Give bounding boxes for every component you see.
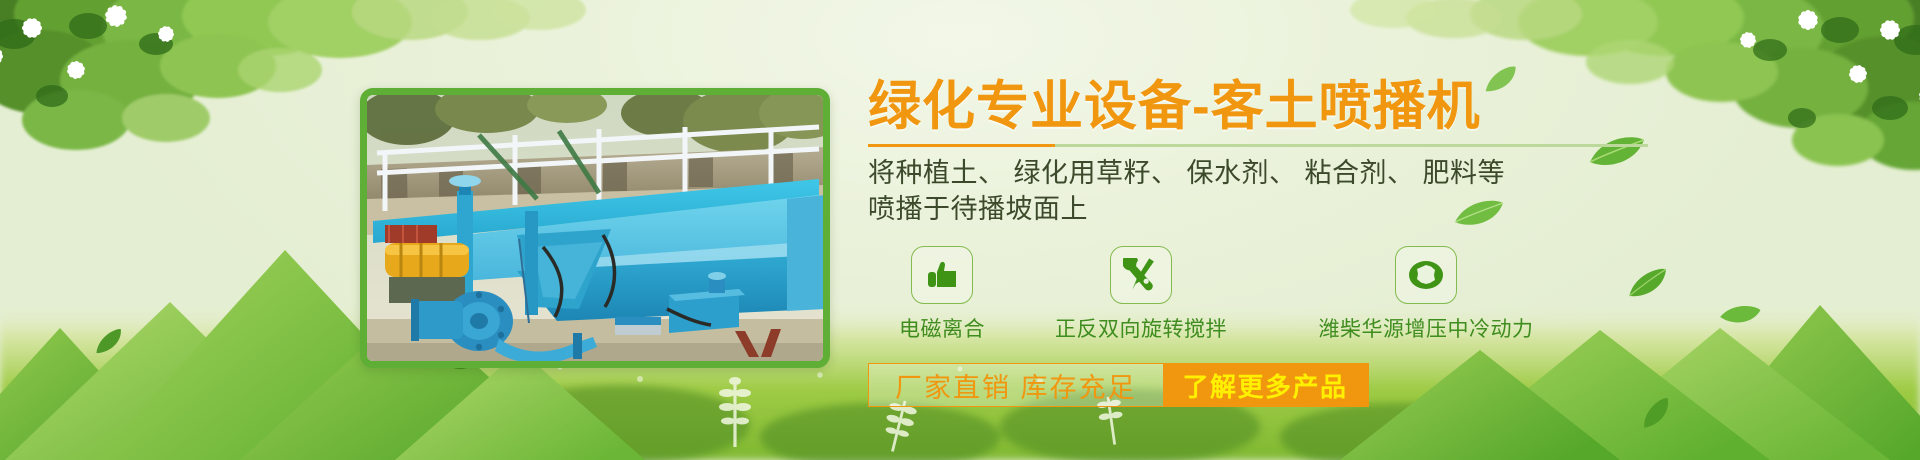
banner-content: 绿化专业设备-客土喷播机 将种植土、 绿化用草籽、 保水剂、 粘合剂、 肥料等 … bbox=[868, 78, 1828, 407]
tools-icon bbox=[1110, 246, 1172, 304]
cta-slogan: 厂家直销 库存充足 bbox=[869, 364, 1163, 406]
subtitle-line-2: 喷播于待播坡面上 bbox=[868, 192, 1828, 228]
thumbs-up-icon bbox=[911, 246, 973, 304]
wrench-screwdriver-glyph bbox=[1123, 258, 1159, 292]
product-photo bbox=[360, 88, 830, 368]
feature-item-bidirectional-mixing: 正反双向旋转搅拌 bbox=[1016, 246, 1266, 343]
learn-more-button[interactable]: 了解更多产品 bbox=[1163, 364, 1368, 406]
feature-label: 电磁离合 bbox=[868, 313, 1016, 343]
banner-title: 绿化专业设备-客土喷播机 bbox=[868, 78, 1828, 135]
subtitle-line-1: 将种植土、 绿化用草籽、 保水剂、 粘合剂、 肥料等 bbox=[868, 156, 1828, 192]
promo-banner: 绿化专业设备-客土喷播机 将种植土、 绿化用草籽、 保水剂、 粘合剂、 肥料等 … bbox=[0, 0, 1920, 460]
hydroseeder-machine-photo bbox=[367, 95, 823, 361]
feature-label: 潍柴华源增压中冷动力 bbox=[1266, 313, 1586, 343]
banner-subtitle: 将种植土、 绿化用草籽、 保水剂、 粘合剂、 肥料等 喷播于待播坡面上 bbox=[868, 156, 1828, 228]
feature-list: 电磁离合 正反双向旋转搅拌 bbox=[868, 246, 1828, 343]
thumbs-up-glyph bbox=[924, 259, 960, 291]
title-underline-divider bbox=[868, 144, 1648, 147]
gear-ring-glyph bbox=[1406, 257, 1446, 293]
feature-label: 正反双向旋转搅拌 bbox=[1016, 313, 1266, 343]
floating-leaf-icon bbox=[87, 323, 131, 360]
gear-ring-icon bbox=[1395, 246, 1457, 304]
cta-bar: 厂家直销 库存充足 了解更多产品 bbox=[868, 363, 1369, 407]
feature-item-electromagnetic-clutch: 电磁离合 bbox=[868, 246, 1016, 343]
feature-item-weichai-power: 潍柴华源增压中冷动力 bbox=[1266, 246, 1586, 343]
